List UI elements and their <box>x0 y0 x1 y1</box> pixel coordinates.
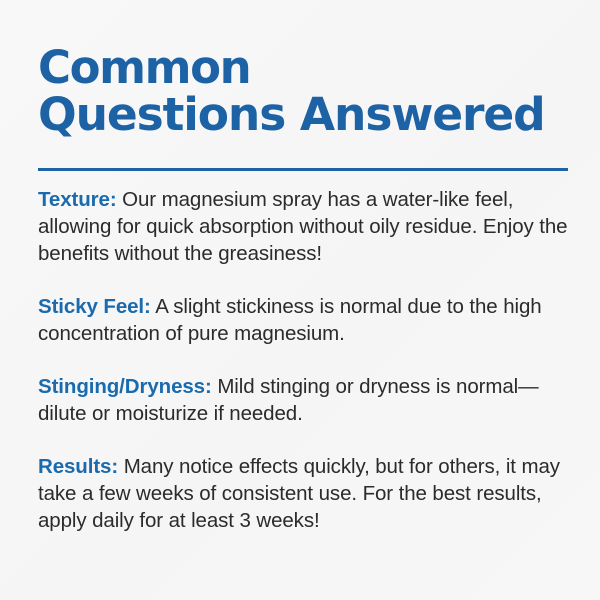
faq-item-sticky-feel: Sticky Feel: A slight stickiness is norm… <box>38 293 568 347</box>
faq-label-results: Results: <box>38 455 118 478</box>
faq-label-sticky-feel: Sticky Feel: <box>38 295 151 318</box>
faq-item-stinging-dryness: Stinging/Dryness: Mild stinging or dryne… <box>38 373 568 427</box>
page-title: Common Questions Answered <box>38 44 578 138</box>
faq-item-results: Results: Many notice effects quickly, bu… <box>38 453 568 534</box>
faq-text-texture: Our magnesium spray has a water-like fee… <box>38 188 567 265</box>
page-title-line-1: Common <box>38 44 578 91</box>
faq-label-texture: Texture: <box>38 188 117 211</box>
title-divider-rule <box>38 168 568 171</box>
faq-item-texture: Texture: Our magnesium spray has a water… <box>38 186 568 267</box>
page-title-line-2: Questions Answered <box>38 91 578 138</box>
faq-graphic: Common Questions Answered Texture: Our m… <box>0 0 600 600</box>
faq-list: Texture: Our magnesium spray has a water… <box>38 186 568 534</box>
faq-label-stinging-dryness: Stinging/Dryness: <box>38 375 212 398</box>
